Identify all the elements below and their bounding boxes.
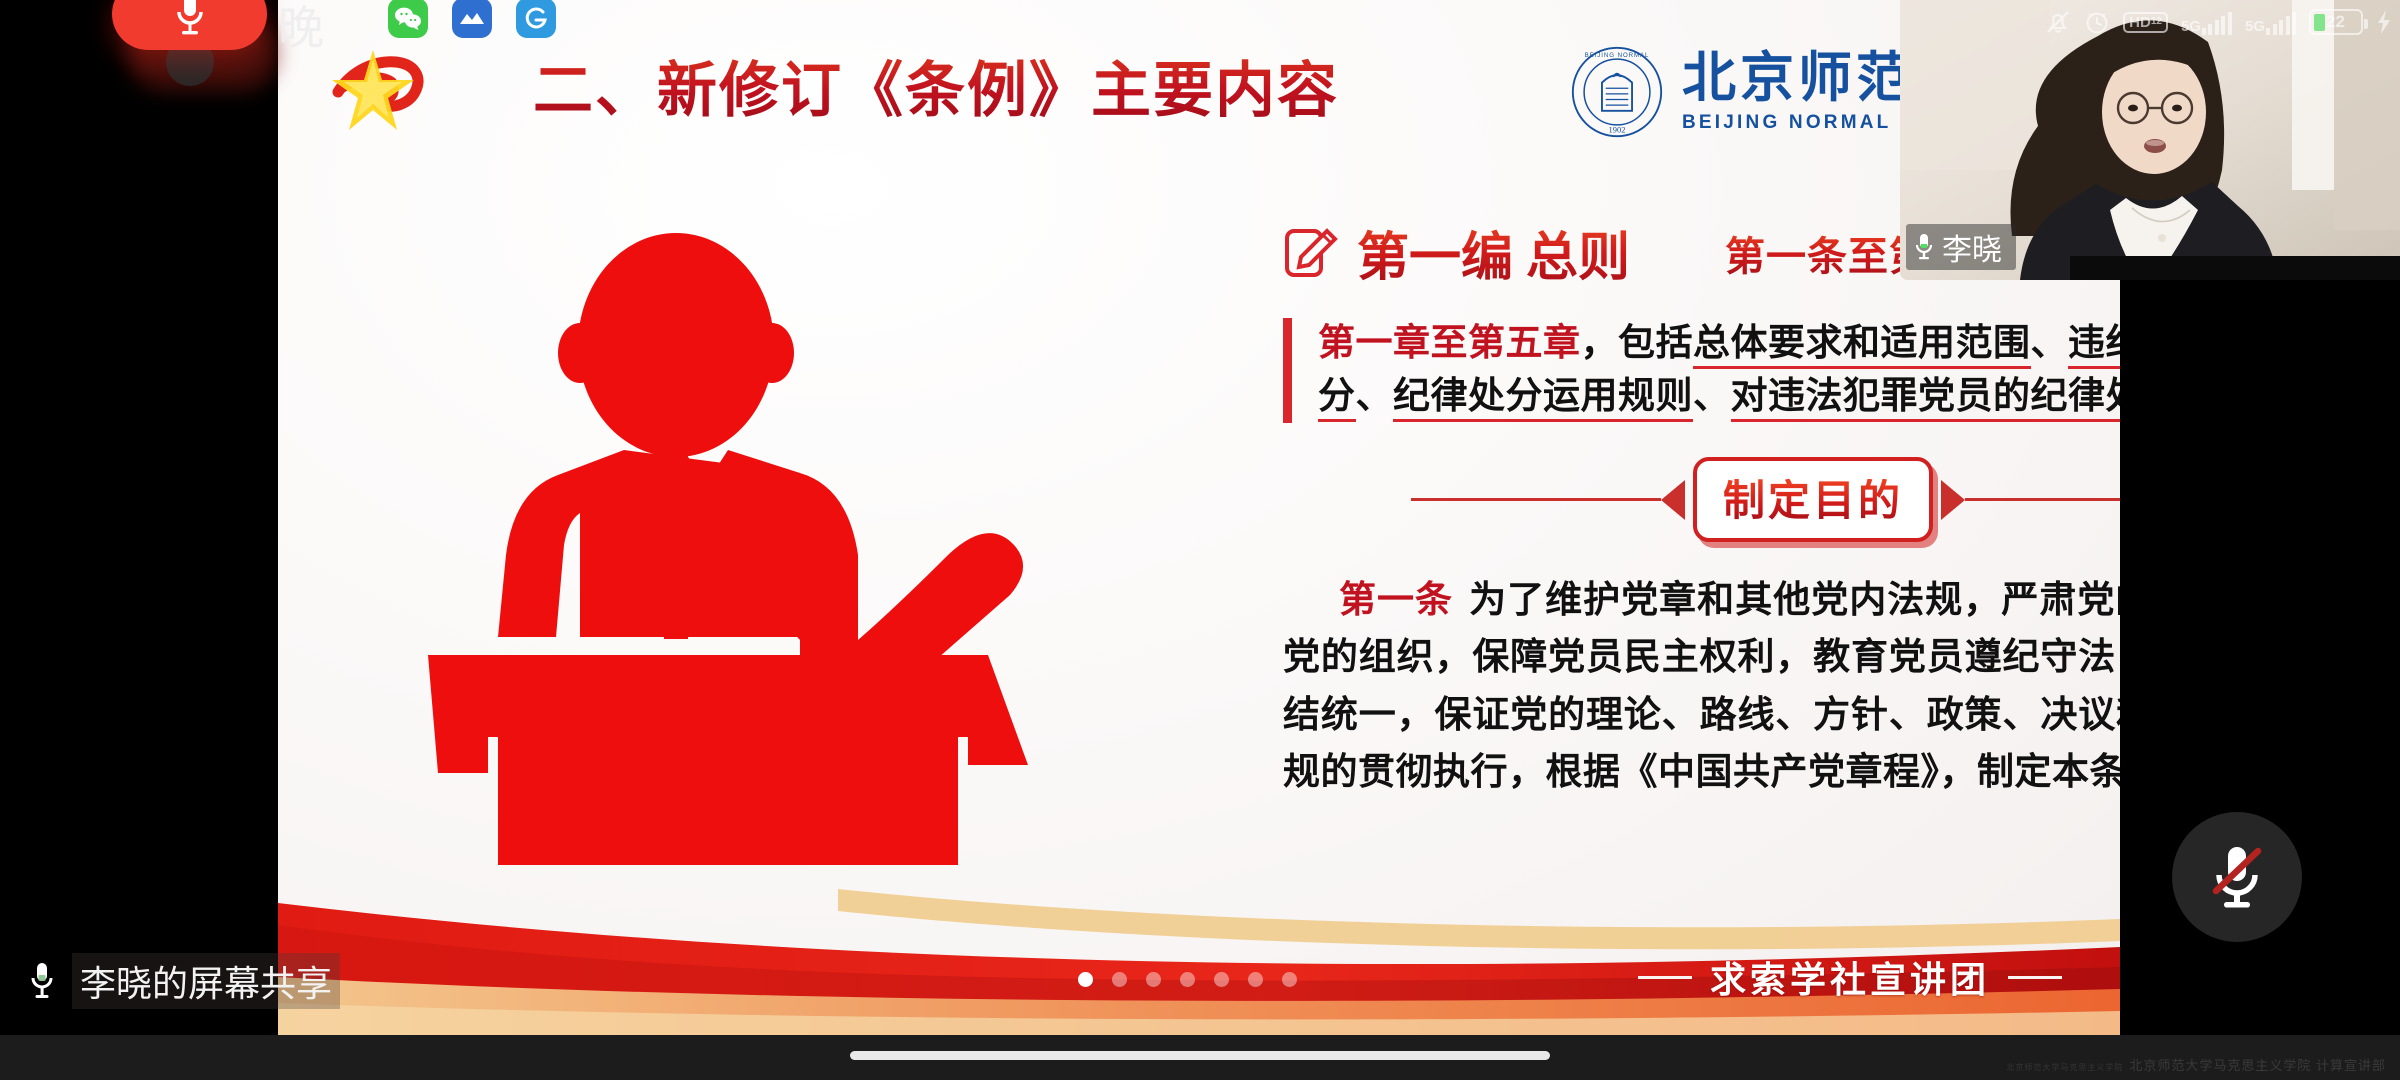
- slide-progress-dots: [1078, 972, 1297, 987]
- network-indicator-sim1: 5G: [2181, 9, 2232, 35]
- participant-video-tile[interactable]: 李晓: [1900, 0, 2400, 280]
- footer-dash-left: [1638, 976, 1692, 979]
- bell-mute-icon: [2045, 9, 2071, 35]
- university-name-en: BEIJING NORMAL: [1682, 112, 1914, 134]
- footer-org-name: 求索学社宣讲团: [1710, 951, 1990, 1003]
- purpose-divider: 制定目的: [1283, 457, 2120, 542]
- quote-sep-3: 、: [1693, 376, 1731, 417]
- shared-slide: 二、新修订《条例》主要内容 1902 BEIJING NORMAL . 北京师范…: [278, 0, 2120, 1035]
- network-indicator-sim2: 5G: [2245, 9, 2296, 35]
- svg-text:BEIJING NORMAL: BEIJING NORMAL: [1585, 52, 1650, 59]
- chapter-summary-quote: 第一章至第五章，包括总体要求和适用范围、违纪与纪律处分、纪律处分运用规则、对违法…: [1283, 318, 2120, 423]
- floating-mic-pill[interactable]: [112, 0, 267, 50]
- slide-dot[interactable]: [1248, 972, 1263, 987]
- party-flame-star-logo-icon: [318, 40, 438, 150]
- mute-toggle-button[interactable]: [2172, 812, 2302, 942]
- notification-text: 晚: [278, 0, 324, 58]
- pen-document-icon: [1283, 225, 1339, 281]
- status-bar: HD12 5G 5G 22: [2045, 2, 2392, 42]
- battery-indicator: 22: [2309, 9, 2363, 35]
- watermark-tiny: 北京师范大学马克思主义学院: [2006, 1063, 2123, 1072]
- slide-dot[interactable]: [1180, 972, 1195, 987]
- participant-name-badge: 李晓: [1906, 224, 2016, 270]
- microphone-muted-icon: [2204, 839, 2270, 915]
- quote-sep-1: 、: [2031, 323, 2069, 364]
- slide-dot[interactable]: [1078, 972, 1093, 987]
- battery-percent: 22: [2326, 12, 2345, 32]
- divider-arrow-left-icon: [1661, 480, 1685, 520]
- screen-share-label: 李晓的屏幕共享: [72, 953, 340, 1009]
- screen-share-status: 李晓的屏幕共享: [28, 952, 340, 1010]
- slide-content: 第一编 总则 第一条至第四十八条 第一章至第五章，包括总体要求和适用范围、违纪与…: [1283, 215, 2120, 801]
- participant-name: 李晓: [1942, 225, 2002, 269]
- purpose-badge-label: 制定目的: [1723, 479, 1903, 525]
- microphone-icon: [28, 960, 56, 1002]
- network-label-sim1: 5G: [2181, 18, 2201, 35]
- slide-dot[interactable]: [1112, 972, 1127, 987]
- microphone-icon: [173, 0, 207, 38]
- quote-rest-1: ，包括: [1581, 323, 1694, 364]
- quote-underline-1: 总体要求和适用范围: [1693, 323, 2031, 369]
- article-number: 第一条: [1339, 580, 1453, 621]
- mountain-icon[interactable]: [452, 0, 492, 38]
- footer-org-block: 求索学社宣讲团: [1638, 951, 2062, 1003]
- section-heading: 第一编 总则: [1357, 215, 1630, 290]
- wechat-icon[interactable]: [388, 0, 428, 38]
- slide-dot[interactable]: [1282, 972, 1297, 987]
- signal-bars-sim1: [2202, 12, 2232, 35]
- quote-underline-4: 对违法犯罪党员的纪律处分: [1731, 376, 2121, 422]
- network-label-sim2: 5G: [2245, 18, 2265, 35]
- microphone-icon: [1914, 232, 1934, 262]
- watermark: 北京师范大学马克思主义学院北京师范大学马克思主义学院 计算宣讲部: [2006, 1055, 2386, 1074]
- app-icon-row: [388, 0, 556, 38]
- home-indicator[interactable]: [850, 1051, 1550, 1060]
- charging-bolt-icon: [2376, 9, 2392, 35]
- article-body: 第一条为了维护党章和其他党内法规，严肃党的纪律，纯洁党的组织，保障党员民主权利，…: [1283, 572, 2120, 801]
- alarm-clock-icon: [2084, 9, 2110, 35]
- quote-sep-2: 、: [1356, 376, 1394, 417]
- quote-lead: 第一章至第五章: [1318, 323, 1581, 364]
- quote-underline-3: 纪律处分运用规则: [1393, 376, 1693, 422]
- university-logo: 1902 BEIJING NORMAL . 北京师范 BEIJING NORMA…: [1570, 42, 1914, 142]
- divider-line-left: [1411, 498, 1661, 501]
- signal-bars-sim2: [2266, 12, 2296, 35]
- purpose-badge: 制定目的: [1693, 457, 1933, 542]
- bnu-seal-year: 1902: [1609, 124, 1626, 134]
- divider-line-right: [1965, 498, 2120, 501]
- hd-voice-indicator: HD12: [2123, 12, 2168, 33]
- university-name-cn: 北京师范: [1682, 51, 1914, 105]
- slide-title: 二、新修订《条例》主要内容: [533, 42, 1339, 129]
- slide-dot[interactable]: [1214, 972, 1229, 987]
- left-letterbox: [0, 0, 278, 1080]
- battery-level-fill: [2314, 14, 2325, 31]
- phone-screen: 二、新修订《条例》主要内容 1902 BEIJING NORMAL . 北京师范…: [0, 0, 2400, 1080]
- slide-dot[interactable]: [1146, 972, 1161, 987]
- speaker-at-podium-icon: [428, 225, 1048, 865]
- divider-arrow-right-icon: [1941, 480, 1965, 520]
- e-icon[interactable]: [516, 0, 556, 38]
- footer-dash-right: [2008, 976, 2062, 979]
- bnu-seal-icon: 1902 BEIJING NORMAL .: [1570, 45, 1664, 139]
- slide-footer: 求索学社宣讲团: [278, 885, 2120, 1035]
- watermark-text: 北京师范大学马克思主义学院 计算宣讲部: [2129, 1058, 2386, 1073]
